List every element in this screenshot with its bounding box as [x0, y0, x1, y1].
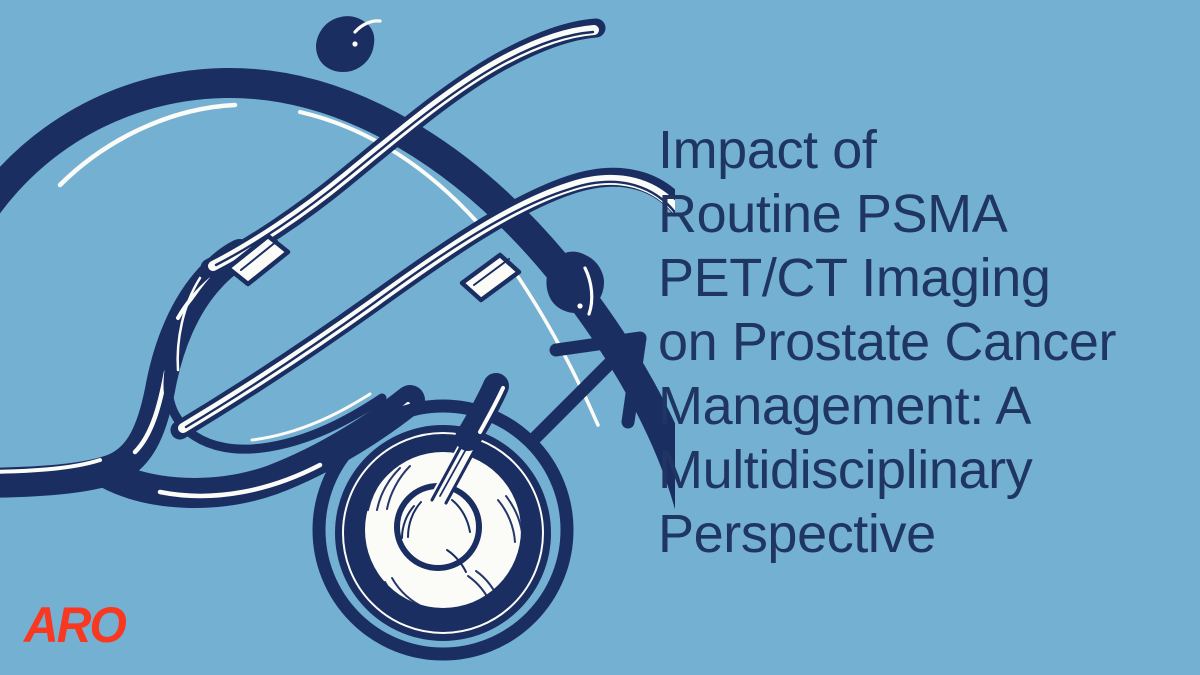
title-line: Management: A: [658, 374, 1178, 438]
title-line: Routine PSMA: [658, 182, 1178, 246]
promo-card: Impact of Routine PSMA PET/CT Imaging on…: [0, 0, 1200, 675]
stethoscope-ear-tip-right: [548, 253, 602, 314]
article-title: Impact of Routine PSMA PET/CT Imaging on…: [658, 118, 1178, 566]
aro-logo: ARO: [24, 600, 125, 650]
title-line: Multidisciplinary: [658, 438, 1178, 502]
binaural-connector-right: [462, 255, 519, 300]
stethoscope-illustration: [0, 0, 675, 675]
title-line: Perspective: [658, 502, 1178, 566]
title-line: on Prostate Cancer: [658, 310, 1178, 374]
title-line: PET/CT Imaging: [658, 246, 1178, 310]
title-line: Impact of: [658, 118, 1178, 182]
stethoscope-ear-tip-left: [314, 14, 380, 74]
